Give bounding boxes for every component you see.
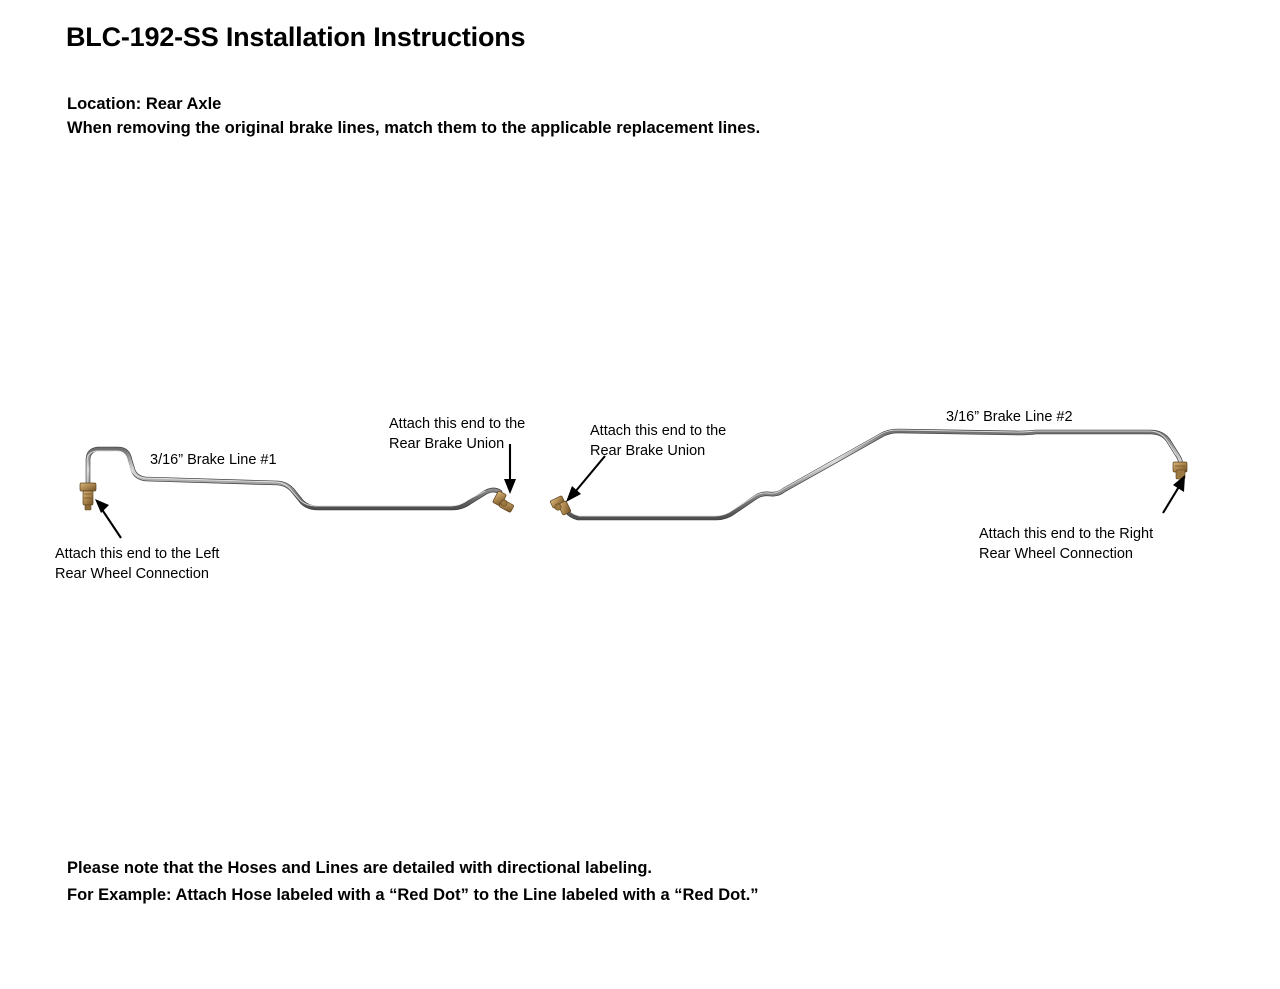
arrow-to-left-rear-wheel — [95, 499, 121, 538]
footer-block: Please note that the Hoses and Lines are… — [67, 855, 759, 909]
arrow-to-rear-brake-union-2 — [566, 456, 605, 502]
annotation-line-2: Rear Wheel Connection — [55, 564, 219, 584]
annotation-line-1: Attach this end to the Right — [979, 524, 1153, 544]
annotation-line-2: Rear Brake Union — [590, 441, 726, 461]
location-line: Location: Rear Axle — [67, 92, 760, 116]
match-line: When removing the original brake lines, … — [67, 116, 760, 140]
annotation-left-rear-wheel-connection: Attach this end to the Left Rear Wheel C… — [55, 544, 219, 584]
annotation-rear-brake-union-line-1: Attach this end to the Rear Brake Union — [389, 414, 525, 454]
annotation-line-1: Attach this end to the — [590, 421, 726, 441]
footer-note-line: Please note that the Hoses and Lines are… — [67, 855, 759, 882]
footer-example-line: For Example: Attach Hose labeled with a … — [67, 882, 759, 909]
annotation-line-2: Rear Wheel Connection — [979, 544, 1153, 564]
annotation-line-1: Attach this end to the — [389, 414, 525, 434]
intro-block: Location: Rear Axle When removing the or… — [67, 92, 760, 140]
annotation-rear-brake-union-line-2: Attach this end to the Rear Brake Union — [590, 421, 726, 461]
brake-line-1-left-fitting — [80, 483, 96, 510]
brake-line-1-right-fitting — [492, 491, 514, 513]
annotation-line-2: Rear Brake Union — [389, 434, 525, 454]
page-title: BLC-192-SS Installation Instructions — [66, 22, 525, 53]
arrow-to-right-rear-wheel — [1163, 475, 1185, 513]
brake-line-2-label: 3/16” Brake Line #2 — [946, 407, 1073, 427]
annotation-line-1: Attach this end to the Left — [55, 544, 219, 564]
brake-line-1-tube — [87, 449, 500, 508]
document-page: BLC-192-SS Installation Instructions Loc… — [0, 0, 1280, 989]
brake-line-1-label: 3/16” Brake Line #1 — [150, 450, 277, 470]
annotation-right-rear-wheel-connection: Attach this end to the Right Rear Wheel … — [979, 524, 1153, 564]
